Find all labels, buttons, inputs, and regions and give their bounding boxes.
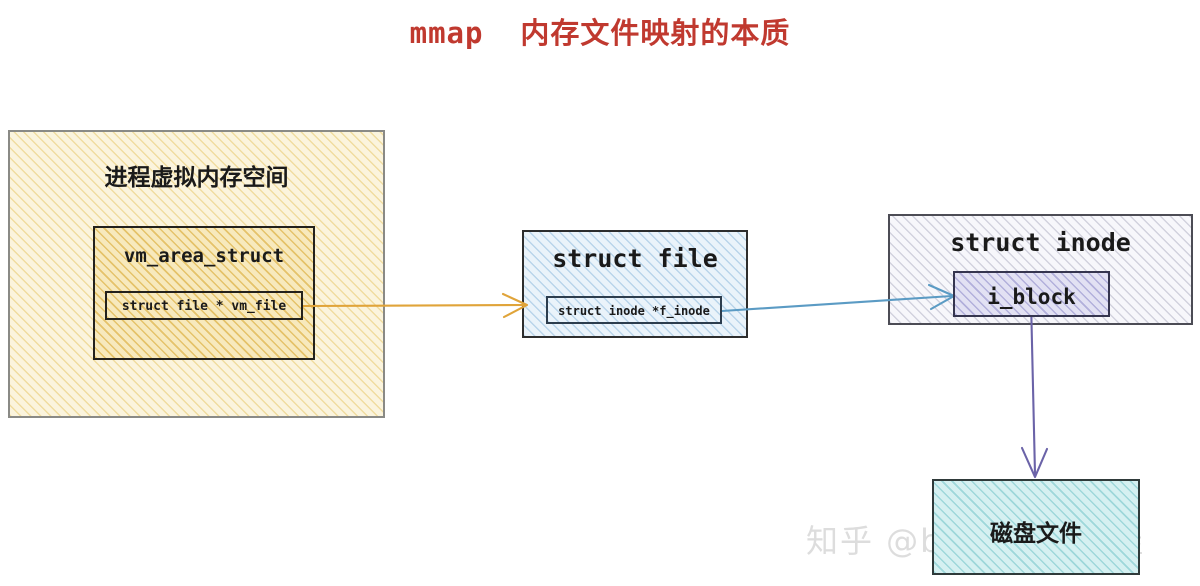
arrow-i-block-to-disk-file xyxy=(1022,300,1047,477)
vm-file-field-box: struct file * vm_file xyxy=(105,291,303,320)
i-block-field-box: i_block xyxy=(953,271,1110,317)
i-block-field-label: i_block xyxy=(955,285,1108,309)
f-inode-field-box: struct inode *f_inode xyxy=(546,296,722,324)
vm-file-field-label: struct file * vm_file xyxy=(107,299,301,314)
arrow-f-inode-to-i-block xyxy=(722,285,954,311)
f-inode-field-label: struct inode *f_inode xyxy=(548,304,720,318)
diagram-canvas: mmap 内存文件映射的本质 进程虚拟内存空间 vm_area_struct s… xyxy=(0,0,1200,586)
arrow-vm-file-to-struct-file xyxy=(303,294,527,317)
